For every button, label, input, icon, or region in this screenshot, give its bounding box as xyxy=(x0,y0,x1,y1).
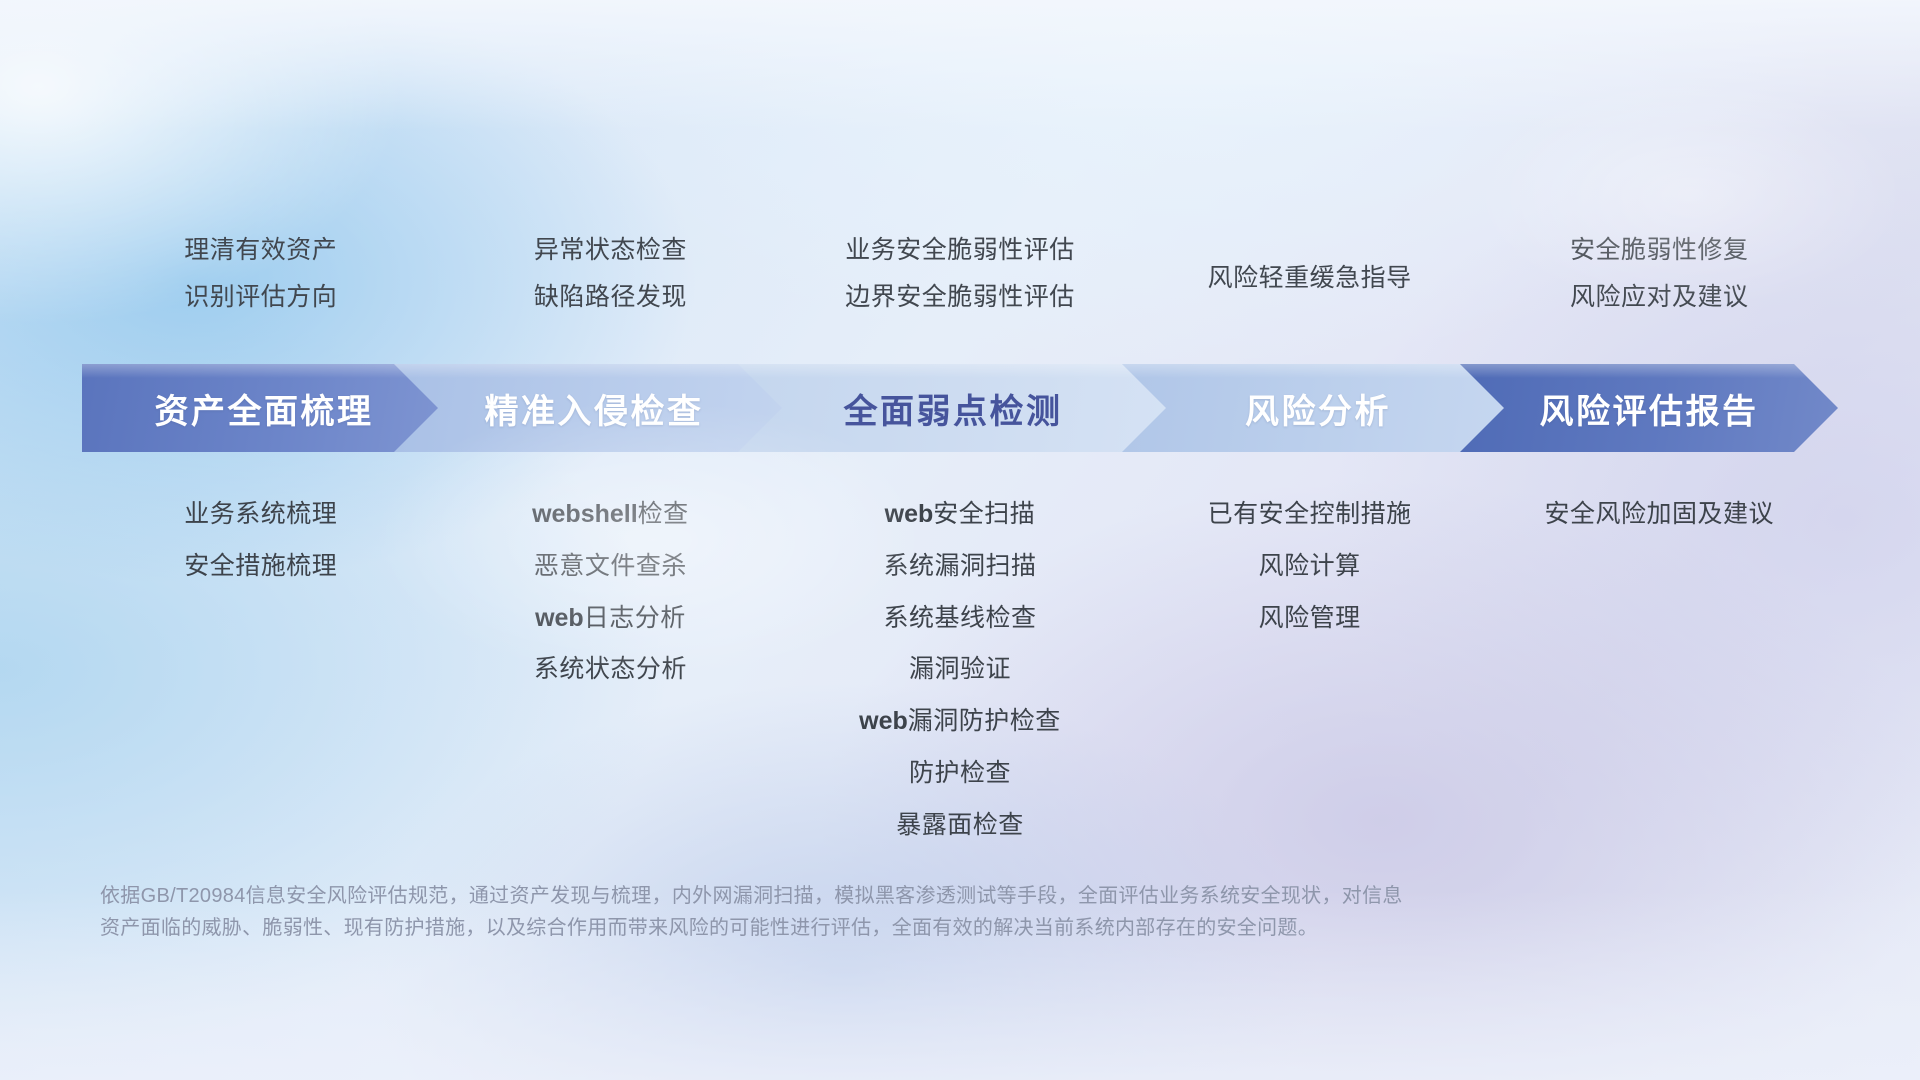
top-notes-risk-analysis: 风险轻重缓急指导 xyxy=(1135,236,1485,312)
items-intrusion-check: webshell检查 恶意文件查杀 web日志分析 系统状态分析 xyxy=(436,500,786,839)
list-item: 暴露面检查 xyxy=(896,811,1024,840)
latin-run: web xyxy=(859,707,908,735)
chevron-stage-weakness-detection[interactable]: 全面弱点检测 xyxy=(738,364,1168,452)
items-risk-analysis: 已有安全控制措施 风险计算 风险管理 xyxy=(1135,500,1485,839)
top-notes-weakness-detection: 业务安全脆弱性评估 边界安全脆弱性评估 xyxy=(785,236,1135,312)
list-item: 漏洞验证 xyxy=(909,655,1011,684)
list-item: 恶意文件查杀 xyxy=(534,552,687,581)
top-note: 边界安全脆弱性评估 xyxy=(845,283,1075,312)
chevron-stage-asset-inventory[interactable]: 资产全面梳理 xyxy=(82,364,446,452)
items-weakness-detection: web安全扫描 系统漏洞扫描 系统基线检查 漏洞验证 web漏洞防护检查 防护检… xyxy=(785,500,1135,839)
chevron-label: 资产全面梳理 xyxy=(155,384,374,433)
chevron-stage-risk-report[interactable]: 风险评估报告 xyxy=(1460,364,1838,452)
items-asset-inventory: 业务系统梳理 安全措施梳理 xyxy=(86,500,436,839)
top-note: 异常状态检查 xyxy=(534,236,687,265)
list-item: 风险管理 xyxy=(1259,604,1361,633)
list-item: web日志分析 xyxy=(535,604,686,633)
top-note: 风险应对及建议 xyxy=(1570,283,1749,312)
list-item: 系统状态分析 xyxy=(534,655,687,684)
chevron-label: 全面弱点检测 xyxy=(844,384,1063,433)
footer-paragraph: 依据GB/T20984信息安全风险评估规范，通过资产发现与梳理，内外网漏洞扫描，… xyxy=(100,880,1610,945)
chevron-label: 风险分析 xyxy=(1245,384,1391,433)
list-item: 风险计算 xyxy=(1259,552,1361,581)
diagram-stage: 理清有效资产 识别评估方向 异常状态检查 缺陷路径发现 业务安全脆弱性评估 边界… xyxy=(0,0,1920,1080)
top-notes-row: 理清有效资产 识别评估方向 异常状态检查 缺陷路径发现 业务安全脆弱性评估 边界… xyxy=(86,236,1834,312)
list-item: web安全扫描 xyxy=(885,500,1036,529)
list-item: webshell检查 xyxy=(532,500,689,529)
chevron-label: 风险评估报告 xyxy=(1540,384,1759,433)
list-item: 已有安全控制措施 xyxy=(1208,500,1412,529)
chevron-stage-risk-analysis[interactable]: 风险分析 xyxy=(1122,364,1514,452)
chevron-label: 精准入侵检查 xyxy=(485,384,704,433)
items-risk-report: 安全风险加固及建议 xyxy=(1484,500,1834,839)
latin-run: webshell xyxy=(532,500,638,528)
process-chevron-band: 资产全面梳理 精准入侵检查 全面弱点检测 风险分析 风险评估报告 xyxy=(82,364,1838,452)
list-item: web漏洞防护检查 xyxy=(859,707,1061,736)
top-note: 理清有效资产 xyxy=(184,236,337,265)
top-notes-risk-report: 安全脆弱性修复 风险应对及建议 xyxy=(1484,236,1834,312)
top-note: 业务安全脆弱性评估 xyxy=(845,236,1075,265)
footer-line-2: 资产面临的威胁、脆弱性、现有防护措施，以及综合作用而带来风险的可能性进行评估，全… xyxy=(100,912,1610,944)
list-item: 防护检查 xyxy=(909,759,1011,788)
list-item: 系统漏洞扫描 xyxy=(883,552,1036,581)
background-fade-top xyxy=(0,0,1920,130)
latin-run: web xyxy=(885,500,934,528)
latin-run: web xyxy=(535,604,584,632)
list-item: 业务系统梳理 xyxy=(184,500,337,529)
top-note: 缺陷路径发现 xyxy=(534,283,687,312)
list-item: 系统基线检查 xyxy=(883,604,1036,633)
top-note: 识别评估方向 xyxy=(184,283,337,312)
footer-line-1: 依据GB/T20984信息安全风险评估规范，通过资产发现与梳理，内外网漏洞扫描，… xyxy=(100,880,1610,912)
top-note: 安全脆弱性修复 xyxy=(1570,236,1749,265)
list-item: 安全措施梳理 xyxy=(184,552,337,581)
top-note: 风险轻重缓急指导 xyxy=(1208,264,1412,293)
top-notes-intrusion-check: 异常状态检查 缺陷路径发现 xyxy=(436,236,786,312)
bottom-items-row: 业务系统梳理 安全措施梳理 webshell检查 恶意文件查杀 web日志分析 … xyxy=(86,500,1834,839)
top-notes-asset-inventory: 理清有效资产 识别评估方向 xyxy=(86,236,436,312)
chevron-stage-intrusion-check[interactable]: 精准入侵检查 xyxy=(394,364,794,452)
list-item: 安全风险加固及建议 xyxy=(1544,500,1774,529)
